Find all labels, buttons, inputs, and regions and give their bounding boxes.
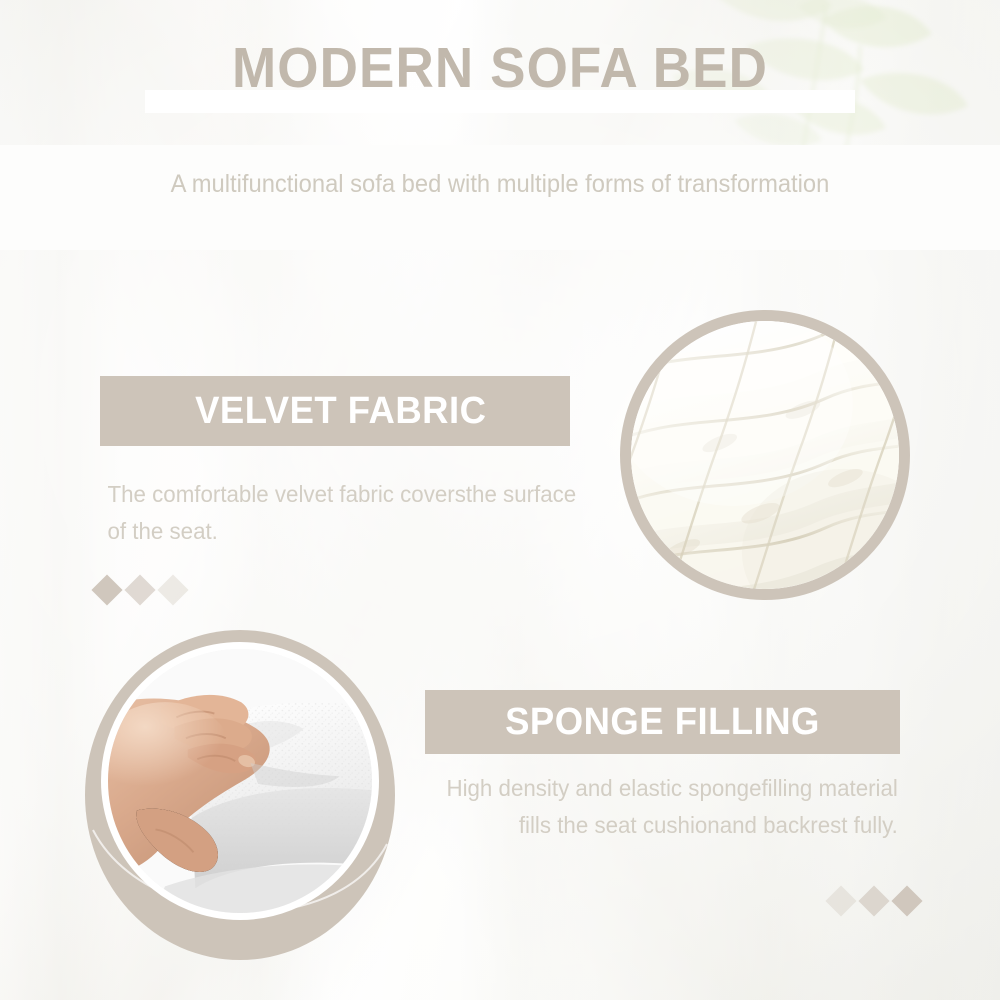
diamond-icon <box>825 885 856 916</box>
feature-photo-velvet-inner <box>631 321 899 589</box>
feature-photo-foam-inner <box>101 642 379 920</box>
page-subtitle: A multifunctional sofa bed with multiple… <box>25 168 975 201</box>
diamond-icon <box>91 574 122 605</box>
diamond-icon <box>124 574 155 605</box>
feature-body-sponge: High density and elastic spongefilling m… <box>437 770 898 844</box>
diamond-ornament-right <box>830 890 918 912</box>
feature-photo-sponge-filling <box>85 630 395 960</box>
diamond-icon <box>891 885 922 916</box>
diamond-icon <box>858 885 889 916</box>
page-title: MODERN SOFA BED <box>35 36 965 100</box>
infographic-canvas: MODERN SOFA BED A multifunctional sofa b… <box>0 0 1000 1000</box>
feature-label-sponge: SPONGE FILLING <box>435 701 891 744</box>
diamond-ornament-left <box>96 579 184 601</box>
feature-body-velvet: The comfortable velvet fabric coversthe … <box>108 476 593 550</box>
feature-label-velvet: VELVET FABRIC <box>109 390 560 433</box>
feature-photo-velvet-fabric <box>620 310 910 600</box>
diamond-icon <box>157 574 188 605</box>
feature-label-bar-sponge: SPONGE FILLING <box>425 690 900 754</box>
feature-label-bar-velvet: VELVET FABRIC <box>100 376 570 446</box>
